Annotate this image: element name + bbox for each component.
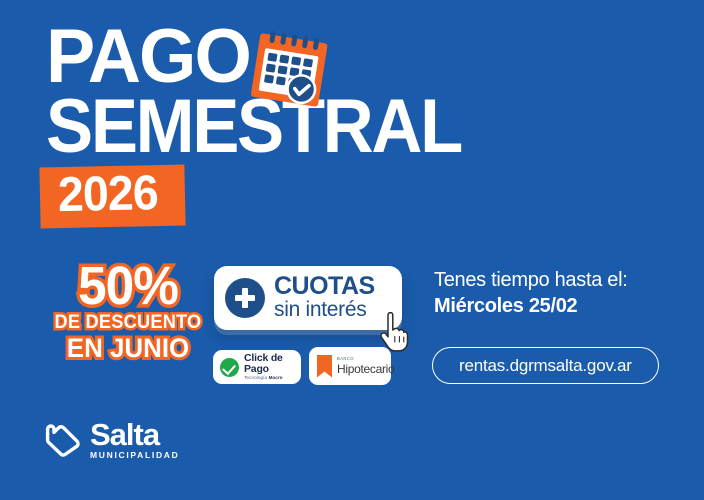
click-de-pago-name: Click de Pago — [244, 353, 301, 374]
hipotecario-eyebrow: BANCO — [337, 357, 394, 361]
year-badge: 2026 — [39, 164, 185, 228]
hipotecario-name: Hipotecario — [337, 363, 394, 375]
installments-text: CUOTAS sin interés — [274, 274, 375, 322]
deadline-block: Tenes tiempo hasta el: Miércoles 25/02 — [434, 268, 628, 319]
pointing-hand-cursor-icon — [376, 312, 410, 352]
click-de-pago-text: Click de Pago Tecnología Macro — [244, 353, 301, 381]
logo-click-de-pago[interactable]: Click de Pago Tecnología Macro — [213, 350, 301, 384]
salta-subtitle: MUNICIPALIDAD — [90, 451, 179, 460]
calendar-check-icon — [247, 27, 330, 115]
installments-subtitle: sin interés — [274, 299, 375, 322]
discount-line-1: DE DESCUENTO — [42, 313, 215, 333]
discount-percent: 50% — [43, 262, 214, 311]
salta-municipality-logo: Salta MUNICIPALIDAD — [44, 420, 179, 460]
year-badge-label: 2026 — [57, 170, 158, 219]
logo-banco-hipotecario[interactable]: BANCO Hipotecario — [309, 347, 391, 385]
headline-line-semestral: SEMESTRAL — [46, 96, 461, 158]
salta-wordmark: Salta MUNICIPALIDAD — [90, 420, 179, 460]
hipotecario-bookmark-icon — [317, 355, 332, 378]
deadline-label: Tenes tiempo hasta el: — [434, 268, 628, 294]
discount-block: 50% DE DESCUENTO EN JUNIO — [38, 262, 218, 362]
salta-name: Salta — [90, 420, 179, 449]
hipotecario-text: BANCO Hipotecario — [337, 357, 394, 374]
green-check-icon — [220, 358, 239, 377]
plus-circle-icon — [225, 278, 265, 318]
website-url-pill[interactable]: rentas.dgrmsalta.gov.ar — [432, 347, 659, 384]
deadline-date: Miércoles 25/02 — [434, 294, 628, 320]
salta-heart-icon — [44, 424, 82, 457]
promotional-banner: PAGO SEMESTRAL — [0, 0, 704, 500]
discount-line-2: EN JUNIO — [42, 334, 215, 362]
installments-card[interactable]: CUOTAS sin interés — [214, 266, 402, 330]
installments-title: CUOTAS — [274, 274, 375, 299]
click-de-pago-tagline: Tecnología Macro — [244, 376, 301, 381]
